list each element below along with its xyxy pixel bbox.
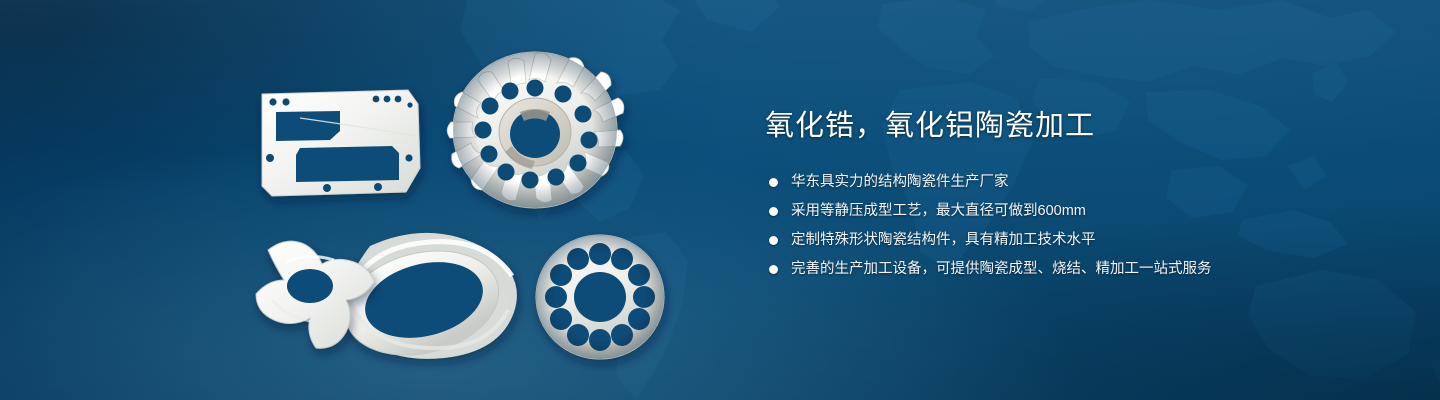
hero-banner: 氧化锆，氧化铝陶瓷加工 华东具实力的结构陶瓷件生产厂家 采用等静压成型工艺，最大… <box>0 0 1440 400</box>
feature-item: 完善的生产加工设备，可提供陶瓷成型、烧结、精加工一站式服务 <box>769 260 1405 278</box>
bullet-dot-icon <box>769 265 778 274</box>
bullet-dot-icon <box>769 207 778 216</box>
feature-item-label: 完善的生产加工设备，可提供陶瓷成型、烧结、精加工一站式服务 <box>791 260 1212 278</box>
feature-item-label: 定制特殊形状陶瓷结构件，具有精加工技术水平 <box>791 231 1096 249</box>
ceramic-flat-plate <box>262 90 420 196</box>
banner-headline: 氧化锆，氧化铝陶瓷加工 <box>765 106 1405 146</box>
bullet-dot-icon <box>769 236 778 245</box>
ceramic-impeller-disc <box>447 52 624 208</box>
bullet-dot-icon <box>769 178 778 187</box>
feature-item: 采用等静压成型工艺，最大直径可做到600mm <box>769 202 1405 220</box>
feature-item: 华东具实力的结构陶瓷件生产厂家 <box>769 173 1405 191</box>
ceramic-ring <box>334 233 517 370</box>
product-photo <box>0 0 760 400</box>
banner-copy: 氧化锆，氧化铝陶瓷加工 华东具实力的结构陶瓷件生产厂家 采用等静压成型工艺，最大… <box>765 106 1405 289</box>
feature-item-label: 华东具实力的结构陶瓷件生产厂家 <box>791 173 1009 191</box>
feature-list: 华东具实力的结构陶瓷件生产厂家 采用等静压成型工艺，最大直径可做到600mm 定… <box>769 173 1405 278</box>
feature-item-label: 采用等静压成型工艺，最大直径可做到600mm <box>791 202 1086 220</box>
ceramic-perforated-disc <box>536 235 664 359</box>
feature-item: 定制特殊形状陶瓷结构件，具有精加工技术水平 <box>769 231 1405 249</box>
